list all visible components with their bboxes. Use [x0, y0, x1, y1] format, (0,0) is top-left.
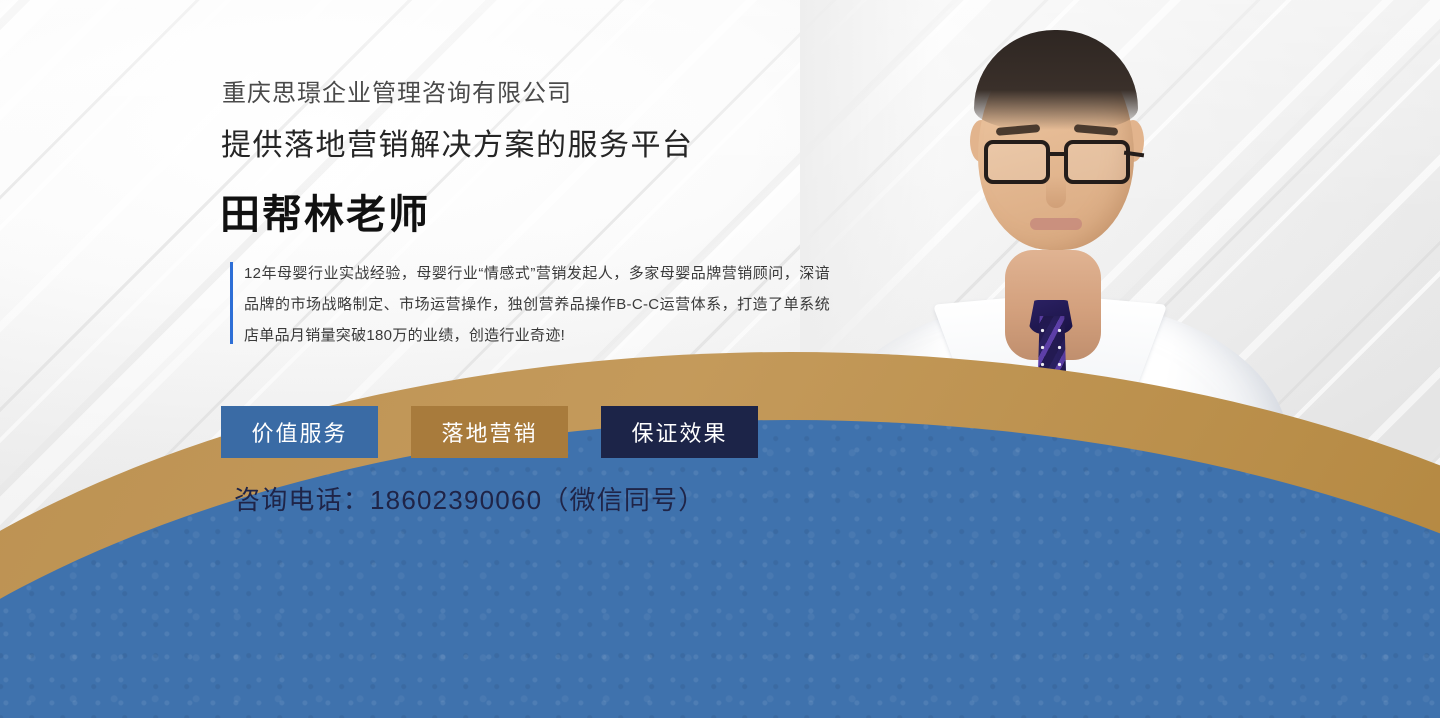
contact-phone[interactable]: 咨询电话：18602390060（微信同号） [234, 480, 705, 517]
company-name: 重庆思璟企业管理咨询有限公司 [222, 73, 572, 108]
person-name: 田帮林老师 [220, 182, 430, 240]
tagline: 提供落地营销解决方案的服务平台 [221, 120, 694, 164]
feature-pill-group: 价值服务 落地营销 保证效果 [221, 406, 758, 458]
feature-pill-landing-marketing[interactable]: 落地营销 [411, 406, 568, 458]
feature-pill-guaranteed-result[interactable]: 保证效果 [601, 406, 758, 458]
content-block: 重庆思璟企业管理咨询有限公司 提供落地营销解决方案的服务平台 田帮林老师 12年… [0, 0, 900, 718]
promo-banner: 重庆思璟企业管理咨询有限公司 提供落地营销解决方案的服务平台 田帮林老师 12年… [0, 0, 1440, 718]
description-text: 12年母婴行业实战经验，母婴行业“情感式”营销发起人，多家母婴品牌营销顾问，深谙… [244, 258, 830, 351]
accent-rule [230, 262, 233, 344]
feature-pill-value-service[interactable]: 价值服务 [221, 406, 378, 458]
